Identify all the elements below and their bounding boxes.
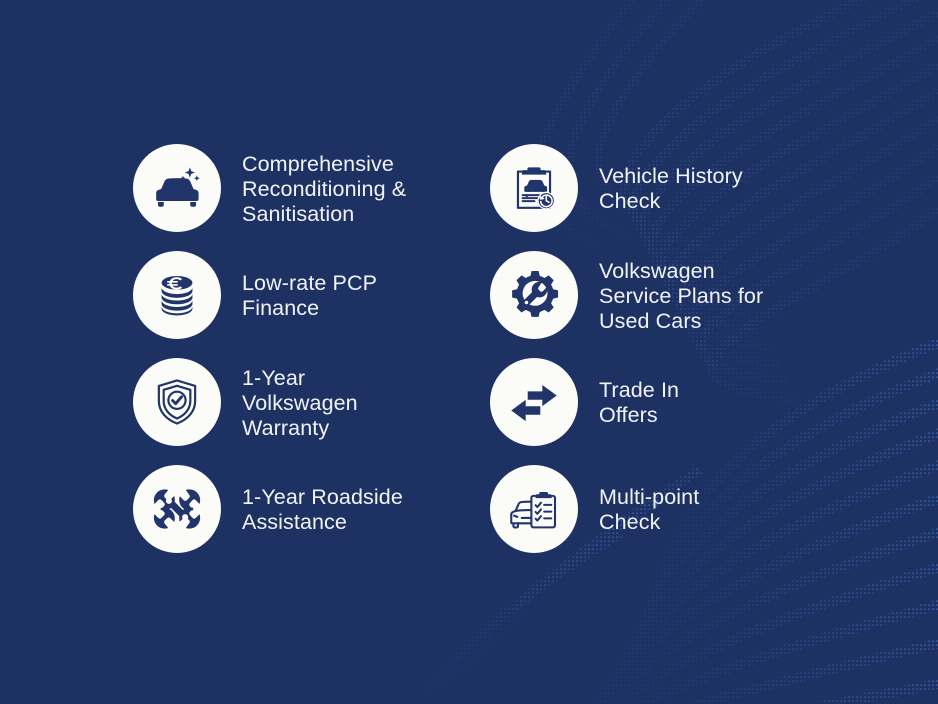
- feature-label: Multi-point Check: [599, 485, 849, 535]
- feature-label: Vehicle History Check: [599, 164, 849, 214]
- feature-item-trade-in-offers[interactable]: Trade In Offers: [490, 354, 850, 461]
- feature-label: Trade In Offers: [599, 378, 849, 428]
- car-checklist-icon: [490, 465, 578, 553]
- crossed-wrenches-icon: [133, 465, 221, 553]
- feature-item-service-plans[interactable]: Volkswagen Service Plans for Used Cars: [490, 247, 850, 354]
- feature-label: 1-Year Roadside Assistance: [242, 485, 492, 535]
- feature-label: 1-Year Volkswagen Warranty: [242, 366, 492, 441]
- feature-item-comprehensive-reconditioning[interactable]: Comprehensive Reconditioning & Sanitisat…: [133, 140, 493, 247]
- feature-item-one-year-warranty[interactable]: 1-Year Volkswagen Warranty: [133, 354, 493, 461]
- feature-label: Low-rate PCP Finance: [242, 271, 492, 321]
- car-sparkle-icon: [133, 144, 221, 232]
- feature-grid: Comprehensive Reconditioning & Sanitisat…: [0, 0, 938, 704]
- two-way-arrows-icon: [490, 358, 578, 446]
- promo-graphic: Comprehensive Reconditioning & Sanitisat…: [0, 0, 938, 704]
- feature-item-vehicle-history-check[interactable]: Vehicle History Check: [490, 140, 850, 247]
- gear-wrench-icon: [490, 251, 578, 339]
- feature-column-right: Vehicle History Check Volkswagen Service…: [490, 140, 850, 568]
- feature-label: Comprehensive Reconditioning & Sanitisat…: [242, 152, 492, 227]
- coin-stack-euro-icon: [133, 251, 221, 339]
- shield-check-icon: [133, 358, 221, 446]
- feature-item-low-rate-pcp-finance[interactable]: Low-rate PCP Finance: [133, 247, 493, 354]
- clipboard-car-history-icon: [490, 144, 578, 232]
- feature-item-multi-point-check[interactable]: Multi-point Check: [490, 461, 850, 568]
- feature-column-left: Comprehensive Reconditioning & Sanitisat…: [133, 140, 493, 568]
- feature-item-roadside-assistance[interactable]: 1-Year Roadside Assistance: [133, 461, 493, 568]
- feature-label: Volkswagen Service Plans for Used Cars: [599, 259, 849, 334]
